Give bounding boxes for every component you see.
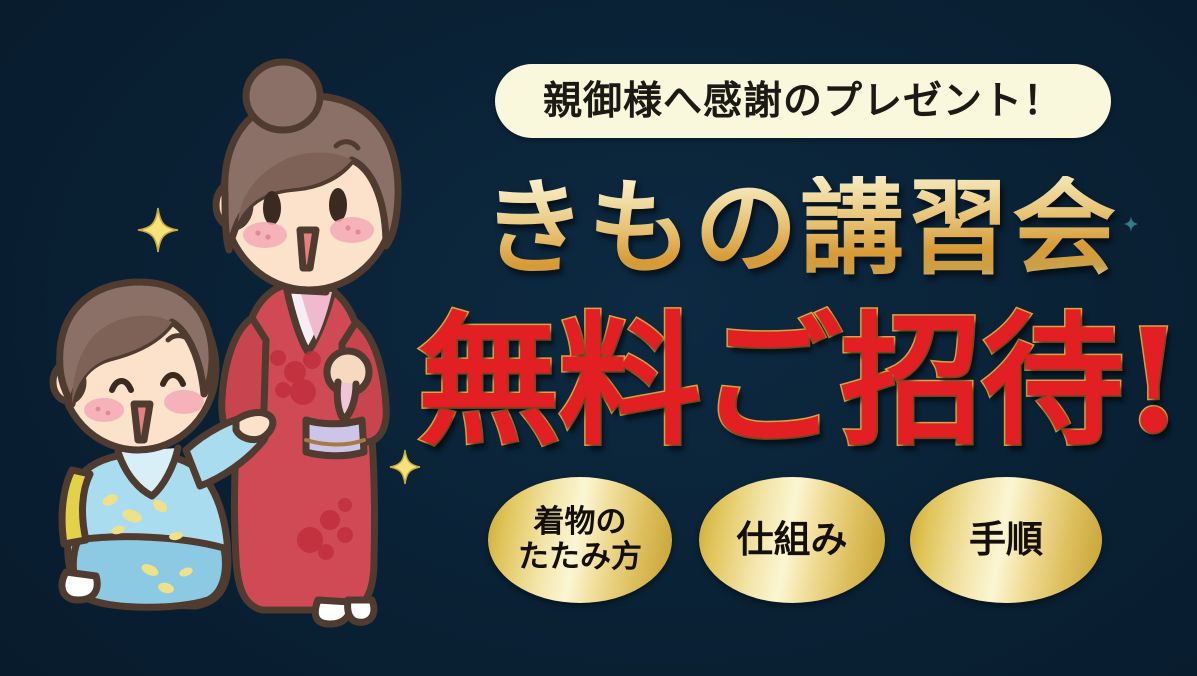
red-headline-text: 無料ご招待! [417, 310, 1183, 453]
badge-line-1: 仕組み [737, 519, 848, 560]
badge-structure-label: 仕組み [737, 519, 848, 560]
topic-badges: 着物の たたみ方 仕組み 手順 [488, 477, 1108, 605]
gold-headline: きもの講習会 [470, 168, 1130, 288]
badge-line-1: 着物の [518, 505, 642, 540]
sparkle-small-yellow-icon [390, 450, 420, 484]
badge-kimono-folding[interactable]: 着物の たたみ方 [488, 477, 672, 603]
promo-pill-banner: 親御様へ感謝のプレゼント！ [495, 64, 1111, 138]
gold-headline-text: きもの講習会 [482, 176, 1118, 280]
badge-structure[interactable]: 仕組み [699, 477, 885, 603]
badge-line-1: 手順 [969, 519, 1043, 560]
sparkle-large-yellow-icon [138, 208, 178, 252]
badge-line-2: たたみ方 [518, 540, 642, 575]
promotional-banner: 親御様へ感謝のプレゼント！ きもの講習会 無料ご招待! 着物の たたみ方 仕組み… [0, 0, 1197, 676]
badge-procedure[interactable]: 手順 [910, 477, 1102, 603]
promo-pill-text: 親御様へ感謝のプレゼント！ [543, 82, 1063, 121]
mother-and-child-kimono-illustration [0, 0, 470, 676]
red-headline: 無料ご招待! [420, 296, 1180, 466]
badge-kimono-folding-label: 着物の たたみ方 [518, 505, 642, 574]
badge-procedure-label: 手順 [969, 519, 1043, 560]
